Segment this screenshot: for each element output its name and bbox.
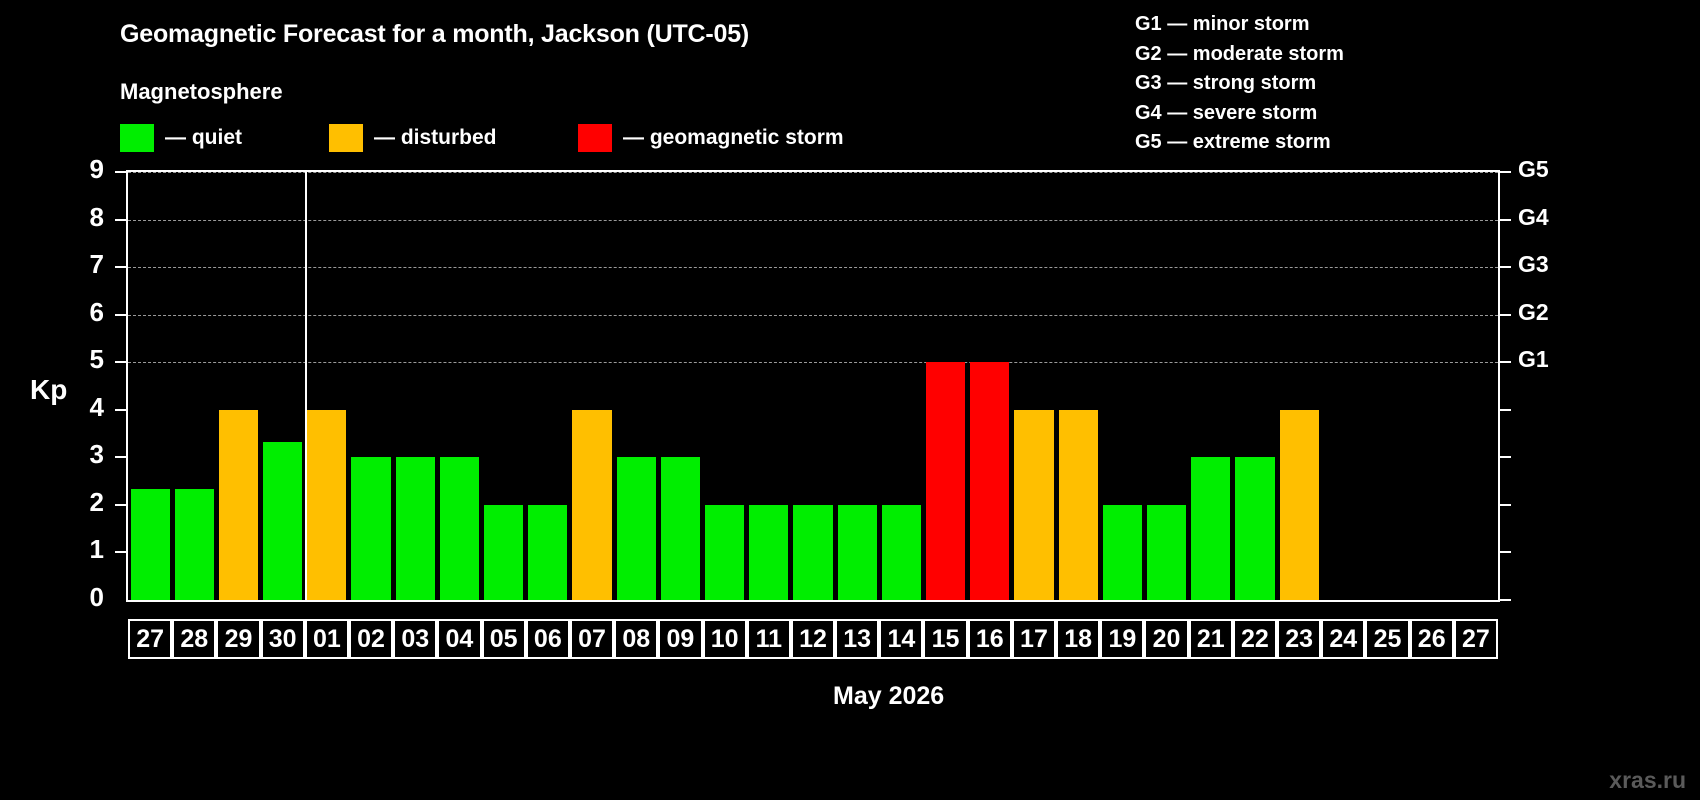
bar-day-16 xyxy=(970,362,1009,600)
y-tick-label-2: 2 xyxy=(44,487,104,518)
date-label-24: 21 xyxy=(1189,619,1233,659)
x-axis-title: May 2026 xyxy=(833,682,944,711)
date-label-11: 08 xyxy=(614,619,658,659)
g-axis-minor-tick-1 xyxy=(1500,551,1511,553)
legend-label-disturbed: — disturbed xyxy=(374,126,497,150)
date-label-19: 16 xyxy=(968,619,1012,659)
date-label-22: 19 xyxy=(1100,619,1144,659)
date-label-27: 24 xyxy=(1321,619,1365,659)
g-tick-G1 xyxy=(1500,361,1511,363)
y-tick-9 xyxy=(115,171,126,173)
bar-day-30 xyxy=(263,442,302,600)
bar-day-22 xyxy=(1235,457,1274,600)
legend-swatch-disturbed xyxy=(329,124,363,152)
date-label-18: 15 xyxy=(923,619,967,659)
g-tick-G3 xyxy=(1500,266,1511,268)
y-tick-label-6: 6 xyxy=(44,297,104,328)
date-label-0: 27 xyxy=(128,619,172,659)
y-tick-5 xyxy=(115,361,126,363)
g-tick-label-G5: G5 xyxy=(1518,156,1578,183)
date-label-9: 06 xyxy=(526,619,570,659)
legend-swatch-quiet xyxy=(120,124,154,152)
bar-day-27 xyxy=(131,489,170,600)
date-label-4: 01 xyxy=(305,619,349,659)
watermark: xras.ru xyxy=(1609,767,1686,794)
current-day-divider xyxy=(305,172,307,600)
date-label-14: 11 xyxy=(747,619,791,659)
legend-label-geomagnetic-storm: — geomagnetic storm xyxy=(623,126,844,150)
y-tick-7 xyxy=(115,266,126,268)
g-axis-minor-tick-3 xyxy=(1500,456,1511,458)
date-label-28: 25 xyxy=(1365,619,1409,659)
g-tick-G2 xyxy=(1500,314,1511,316)
storm-scale-row-g4: G4 — severe storm xyxy=(1135,99,1344,129)
legend-swatch-geomagnetic-storm xyxy=(578,124,612,152)
bar-day-14 xyxy=(882,505,921,600)
g-tick-label-G4: G4 xyxy=(1518,204,1578,231)
y-tick-3 xyxy=(115,456,126,458)
bar-day-28 xyxy=(175,489,214,600)
bar-day-08 xyxy=(617,457,656,600)
date-label-26: 23 xyxy=(1277,619,1321,659)
bar-day-21 xyxy=(1191,457,1230,600)
bar-day-09 xyxy=(661,457,700,600)
bar-day-17 xyxy=(1014,410,1053,600)
y-tick-label-0: 0 xyxy=(44,582,104,613)
g-tick-label-G1: G1 xyxy=(1518,346,1578,373)
g-axis-minor-tick-4 xyxy=(1500,409,1511,411)
chart-root: Geomagnetic Forecast for a month, Jackso… xyxy=(0,0,1700,800)
y-tick-label-1: 1 xyxy=(44,534,104,565)
bar-day-03 xyxy=(396,457,435,600)
legend-item-geomagnetic-storm: — geomagnetic storm xyxy=(578,123,844,153)
bar-day-18 xyxy=(1059,410,1098,600)
legend-item-quiet: — quiet xyxy=(120,123,242,153)
bar-day-23 xyxy=(1280,410,1319,600)
date-label-10: 07 xyxy=(570,619,614,659)
bar-day-05 xyxy=(484,505,523,600)
date-label-6: 03 xyxy=(393,619,437,659)
date-label-1: 28 xyxy=(172,619,216,659)
g-tick-label-G3: G3 xyxy=(1518,251,1578,278)
date-label-17: 14 xyxy=(879,619,923,659)
date-label-16: 13 xyxy=(835,619,879,659)
storm-scale-row-g5: G5 — extreme storm xyxy=(1135,128,1344,158)
y-tick-8 xyxy=(115,219,126,221)
y-tick-label-7: 7 xyxy=(44,249,104,280)
g-axis-minor-tick-2 xyxy=(1500,504,1511,506)
y-tick-label-5: 5 xyxy=(44,344,104,375)
bar-day-13 xyxy=(838,505,877,600)
plot-area xyxy=(126,170,1500,602)
bar-day-11 xyxy=(749,505,788,600)
y-tick-label-8: 8 xyxy=(44,202,104,233)
y-tick-label-9: 9 xyxy=(44,154,104,185)
legend-item-disturbed: — disturbed xyxy=(329,123,497,153)
bar-day-12 xyxy=(793,505,832,600)
page-title: Geomagnetic Forecast for a month, Jackso… xyxy=(120,20,749,49)
storm-scale-row-g2: G2 — moderate storm xyxy=(1135,40,1344,70)
date-label-3: 30 xyxy=(261,619,305,659)
date-label-8: 05 xyxy=(482,619,526,659)
date-label-21: 18 xyxy=(1056,619,1100,659)
legend-label-quiet: — quiet xyxy=(165,126,242,150)
g-tick-label-G2: G2 xyxy=(1518,299,1578,326)
storm-scale-legend: G1 — minor stormG2 — moderate stormG3 — … xyxy=(1135,10,1344,158)
date-label-13: 10 xyxy=(703,619,747,659)
date-label-20: 17 xyxy=(1012,619,1056,659)
g-tick-G5 xyxy=(1500,171,1511,173)
bar-day-01 xyxy=(307,410,346,600)
date-label-23: 20 xyxy=(1144,619,1188,659)
date-label-25: 22 xyxy=(1233,619,1277,659)
bar-day-06 xyxy=(528,505,567,600)
bar-day-19 xyxy=(1103,505,1142,600)
storm-scale-row-g3: G3 — strong storm xyxy=(1135,69,1344,99)
g-tick-G4 xyxy=(1500,219,1511,221)
date-label-29: 26 xyxy=(1410,619,1454,659)
bar-day-02 xyxy=(351,457,390,600)
bars-container xyxy=(128,172,1498,600)
bar-day-07 xyxy=(572,410,611,600)
y-tick-6 xyxy=(115,314,126,316)
bar-day-04 xyxy=(440,457,479,600)
storm-scale-row-g1: G1 — minor storm xyxy=(1135,10,1344,40)
y-tick-label-4: 4 xyxy=(44,392,104,423)
date-label-15: 12 xyxy=(791,619,835,659)
y-tick-label-3: 3 xyxy=(44,439,104,470)
bar-day-20 xyxy=(1147,505,1186,600)
bar-day-10 xyxy=(705,505,744,600)
y-tick-1 xyxy=(115,551,126,553)
chart-subtitle: Magnetosphere xyxy=(120,79,283,105)
y-tick-2 xyxy=(115,504,126,506)
date-label-5: 02 xyxy=(349,619,393,659)
bar-day-29 xyxy=(219,410,258,600)
date-label-2: 29 xyxy=(216,619,260,659)
date-label-30: 27 xyxy=(1454,619,1498,659)
bar-day-15 xyxy=(926,362,965,600)
date-label-12: 09 xyxy=(658,619,702,659)
date-label-7: 04 xyxy=(437,619,481,659)
y-tick-4 xyxy=(115,409,126,411)
g-axis-minor-tick-0 xyxy=(1500,599,1511,601)
